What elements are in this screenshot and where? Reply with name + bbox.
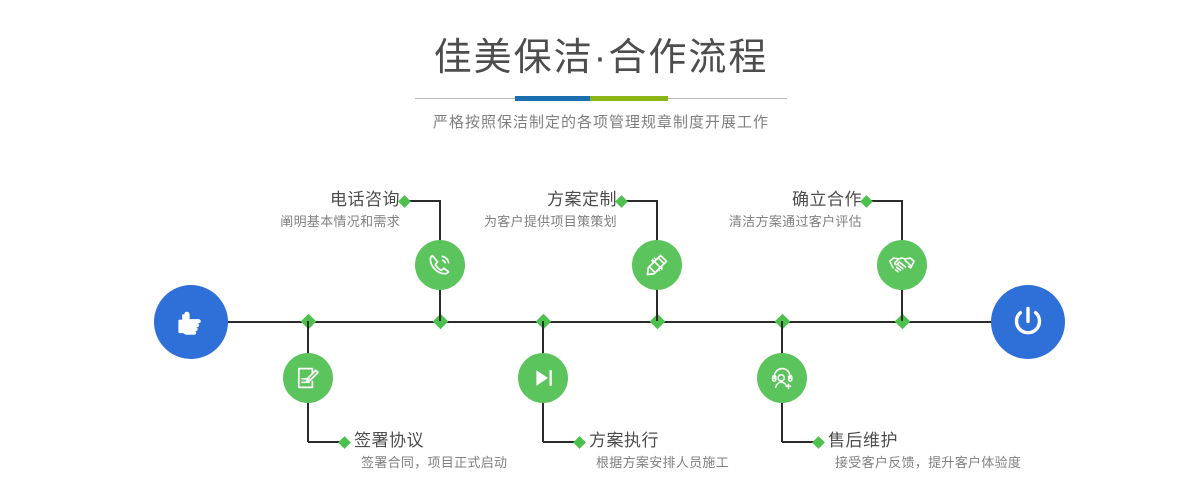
- step-icon-circle-5[interactable]: [877, 240, 927, 290]
- handshake-icon: [887, 250, 917, 280]
- step-subtitle-5: 清洁方案通过客户评估: [565, 211, 862, 232]
- pointing-hand-icon: [171, 302, 211, 342]
- step-subtitle-6: 接受客户反馈，提升客户体验度: [828, 452, 1168, 473]
- timeline-end-node[interactable]: [991, 285, 1065, 359]
- step-icon-circle-4[interactable]: [518, 353, 568, 403]
- phone-call-icon: [425, 250, 455, 280]
- ruler-pencil-icon: [642, 250, 672, 280]
- customer-service-add-icon: [768, 364, 796, 392]
- step-icon-circle-6[interactable]: [757, 353, 807, 403]
- timeline-start-node[interactable]: [154, 285, 228, 359]
- process-timeline: 电话咨询 阐明基本情况和需求 签署协议: [0, 0, 1202, 502]
- step-caption-6: 售后维护 接受客户反馈，提升客户体验度: [828, 430, 1168, 473]
- step-caption-5: 确立合作 清洁方案通过客户评估: [565, 189, 862, 232]
- step-icon-circle-1[interactable]: [415, 240, 465, 290]
- power-icon: [1007, 301, 1049, 343]
- step-title-6: 售后维护: [828, 430, 1168, 452]
- play-execute-icon: [529, 364, 557, 392]
- label-marker-2: [338, 436, 351, 449]
- document-edit-icon: [294, 364, 322, 392]
- step-icon-circle-2[interactable]: [283, 353, 333, 403]
- step-icon-circle-3[interactable]: [632, 240, 682, 290]
- flowchart-page: 佳美保洁·合作流程 严格按照保洁制定的各项管理规章制度开展工作: [0, 0, 1202, 502]
- step-title-5: 确立合作: [565, 189, 862, 211]
